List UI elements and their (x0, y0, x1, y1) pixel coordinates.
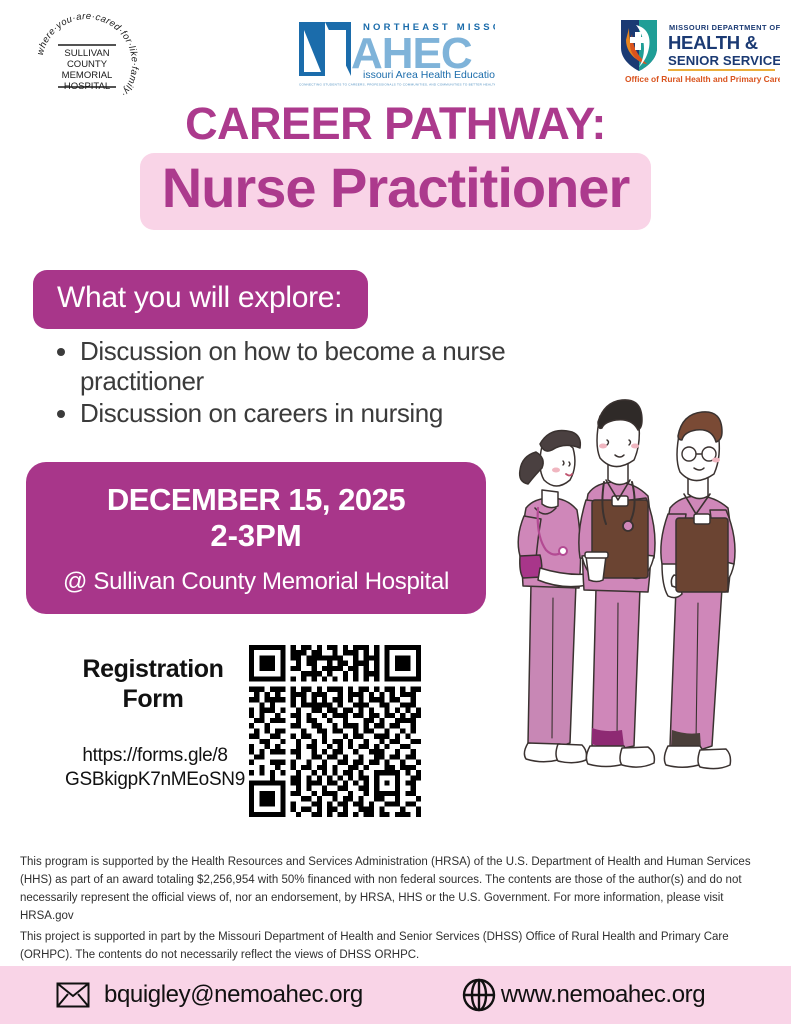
registration-url[interactable]: https://forms.gle/8 GSBkigpK7nMEoSN9 (60, 744, 250, 792)
envelope-icon (56, 982, 90, 1008)
title-line-1: CAREER PATHWAY: (0, 100, 791, 147)
hospital-line-1: SULLIVAN (64, 48, 109, 59)
dhss-disclaimer: This project is supported in part by the… (20, 928, 775, 964)
email-contact[interactable]: bquigley@nemoahec.org (56, 981, 363, 1009)
dhss-eyebrow: MISSOURI DEPARTMENT OF (669, 23, 780, 32)
globe-icon (461, 977, 497, 1013)
registration-heading: Registration Form (63, 655, 243, 714)
event-time: 2-3PM (26, 517, 486, 554)
list-item: Discussion on careers in nursing (80, 398, 512, 428)
event-details-box: DECEMBER 15, 2025 2-3PM @ Sullivan Count… (26, 462, 486, 614)
hrsa-disclaimer: This program is supported by the Health … (20, 853, 775, 926)
title-line-2: Nurse Practitioner (162, 159, 630, 218)
registration-url-line-2: GSBkigpK7nMEoSN9 (65, 769, 245, 790)
dhss-office: Office of Rural Health and Primary Care (625, 74, 780, 84)
website-url: www.nemoahec.org (501, 981, 705, 1009)
three-nurses-illustration (500, 398, 791, 793)
hospital-line-4: HOSPITAL (64, 81, 110, 92)
hospital-line-3: MEMORIAL (62, 70, 113, 81)
registration-url-line-1: https://forms.gle/8 (82, 745, 227, 766)
event-location: @ Sullivan County Memorial Hospital (26, 568, 486, 596)
contact-footer: bquigley@nemoahec.org www.nemoahec.org (0, 966, 791, 1024)
northeast-missouri-ahec-logo: NORTHEAST MISSOURI AHEC issouri Area Hea… (295, 8, 495, 88)
website-contact[interactable]: www.nemoahec.org (461, 977, 705, 1013)
explore-list: Discussion on how to become a nurse prac… (52, 336, 512, 429)
list-item: Discussion on how to become a nurse prac… (80, 336, 512, 397)
event-date: DECEMBER 15, 2025 (26, 482, 486, 517)
explore-heading-label: What you will explore: (57, 281, 342, 314)
qr-code[interactable] (249, 645, 421, 817)
title-highlight-box: Nurse Practitioner (140, 153, 652, 230)
mahec-subtitle: issouri Area Health Education Centers (363, 69, 495, 81)
logo-header: where·you·are·cared·for·like·family· SUL… (0, 0, 791, 95)
explore-heading-chip: What you will explore: (33, 270, 368, 329)
missouri-dhss-logo: MISSOURI DEPARTMENT OF HEALTH & SENIOR S… (615, 14, 780, 86)
mahec-tagline: CONNECTING STUDENTS TO CAREERS, PROFESSI… (299, 83, 495, 87)
dhss-line-2: SENIOR SERVICES (668, 53, 780, 68)
page-title: CAREER PATHWAY: Nurse Practitioner (0, 100, 791, 230)
hospital-line-2: COUNTY (67, 59, 108, 70)
email-address: bquigley@nemoahec.org (104, 981, 363, 1009)
dhss-line-1: HEALTH & (668, 32, 758, 53)
